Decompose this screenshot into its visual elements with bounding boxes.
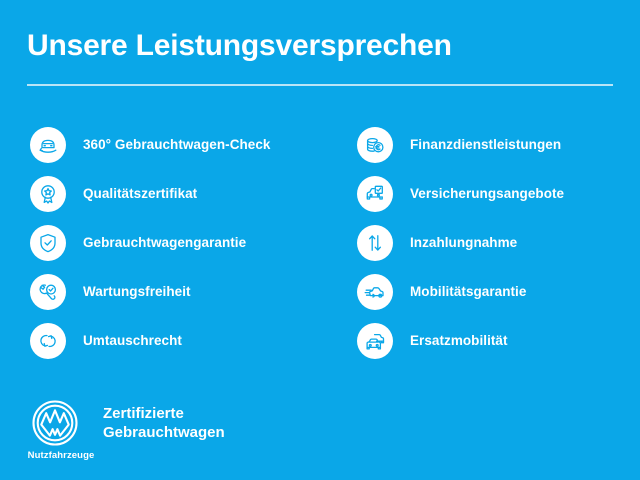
arrows-up-down-icon xyxy=(357,225,393,261)
footer-headline: Zertifizierte Gebrauchtwagen xyxy=(103,404,225,442)
feature-label: Wartungsfreiheit xyxy=(83,284,191,299)
feature-label: Finanzdienstleistungen xyxy=(410,137,561,152)
footer-headline-line2: Gebrauchtwagen xyxy=(103,423,225,442)
car-speed-icon xyxy=(357,274,393,310)
feature-label: Versicherungsangebote xyxy=(410,186,564,201)
feature-label: Inzahlungnahme xyxy=(410,235,517,250)
feature-item-maintenance-free[interactable]: Wartungsfreiheit xyxy=(30,267,270,316)
car-360-check-icon xyxy=(30,127,66,163)
footer-headline-line1: Zertifizierte xyxy=(103,404,225,423)
two-cars-icon xyxy=(357,323,393,359)
volkswagen-logo: Nutzfahrzeuge xyxy=(30,398,92,461)
feature-item-360-check[interactable]: 360° Gebrauchtwagen-Check xyxy=(30,120,270,169)
feature-item-financial-services[interactable]: Finanzdienstleistungen xyxy=(357,120,564,169)
feature-item-quality-certificate[interactable]: Qualitätszertifikat xyxy=(30,169,270,218)
title-divider xyxy=(27,84,613,86)
feature-item-replacement-mobility[interactable]: Ersatzmobilität xyxy=(357,316,564,365)
car-document-check-icon xyxy=(357,176,393,212)
feature-label: Mobilitätsgarantie xyxy=(410,284,526,299)
feature-item-mobility-guarantee[interactable]: Mobilitätsgarantie xyxy=(357,267,564,316)
feature-label: Qualitätszertifikat xyxy=(83,186,197,201)
feature-label: Gebrauchtwagengarantie xyxy=(83,235,246,250)
coins-euro-icon xyxy=(357,127,393,163)
feature-column-right: Finanzdienstleistungen Versicherungsange… xyxy=(357,120,564,365)
feature-item-exchange-right[interactable]: Umtauschrecht xyxy=(30,316,270,365)
exchange-arrows-icon xyxy=(30,323,66,359)
feature-item-insurance-offers[interactable]: Versicherungsangebote xyxy=(357,169,564,218)
feature-label: Umtauschrecht xyxy=(83,333,182,348)
feature-item-trade-in[interactable]: Inzahlungnahme xyxy=(357,218,564,267)
wrench-check-icon xyxy=(30,274,66,310)
page-title: Unsere Leistungsversprechen xyxy=(27,29,452,63)
quality-seal-icon xyxy=(30,176,66,212)
feature-label: Ersatzmobilität xyxy=(410,333,508,348)
logo-subtitle: Nutzfahrzeuge xyxy=(27,450,95,461)
feature-column-left: 360° Gebrauchtwagen-Check Qualitätszerti… xyxy=(30,120,270,365)
feature-label: 360° Gebrauchtwagen-Check xyxy=(83,137,270,152)
shield-check-icon xyxy=(30,225,66,261)
slide-root: Unsere Leistungsversprechen 360° Gebrauc… xyxy=(0,0,640,480)
feature-item-warranty[interactable]: Gebrauchtwagengarantie xyxy=(30,218,270,267)
